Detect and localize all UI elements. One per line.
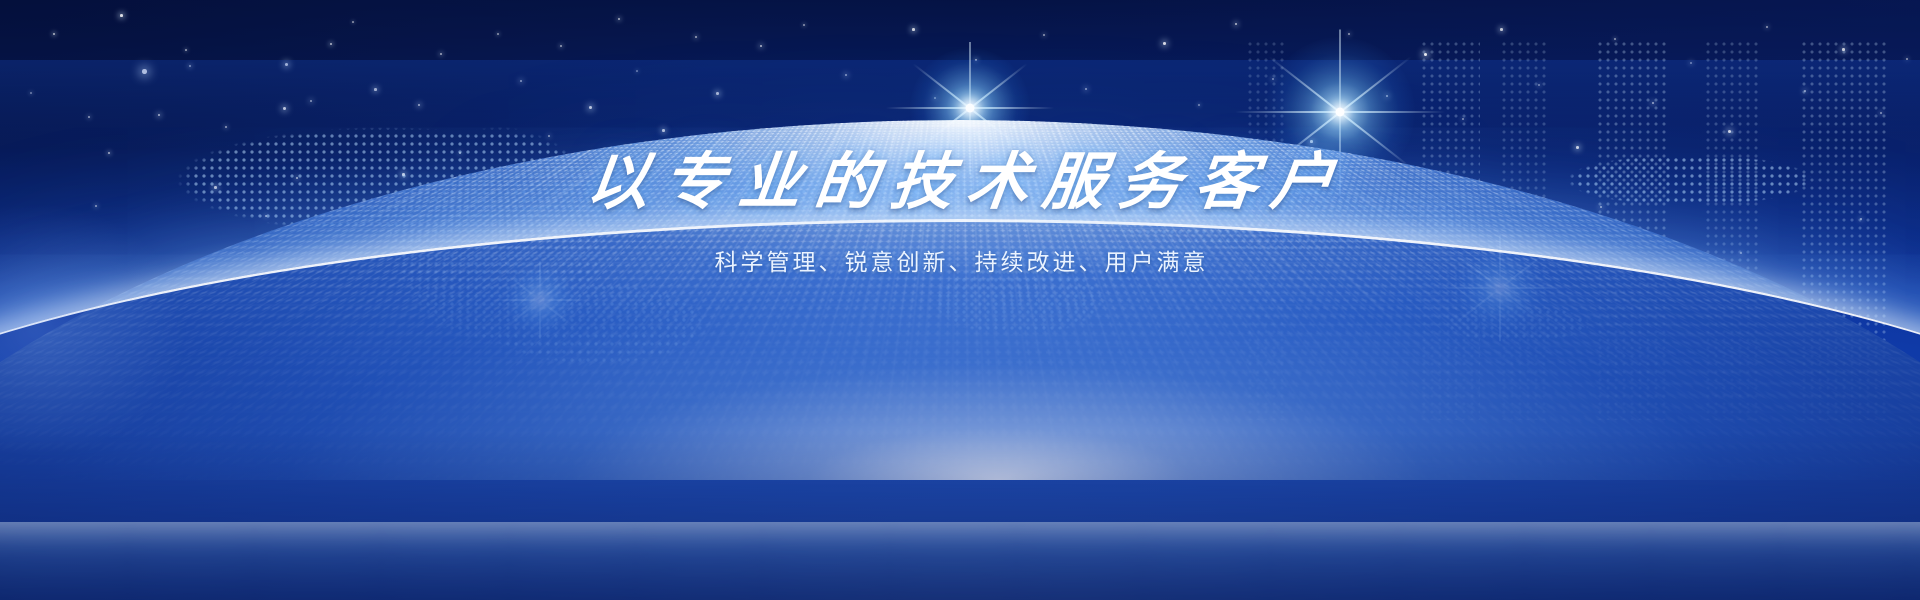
flare-core <box>966 104 975 113</box>
star <box>440 53 442 55</box>
star <box>185 49 187 51</box>
hero-banner: 以专业的技术服务客户 科学管理、锐意创新、持续改进、用户满意 <box>0 0 1920 600</box>
star <box>618 18 620 20</box>
star <box>330 43 332 45</box>
banner-subline: 科学管理、锐意创新、持续改进、用户满意 <box>0 243 1920 277</box>
star <box>1235 23 1237 25</box>
banner-copy: 以专业的技术服务客户 科学管理、锐意创新、持续改进、用户满意 <box>0 150 1920 277</box>
star <box>695 36 697 38</box>
star <box>912 28 915 31</box>
star <box>560 45 562 47</box>
star <box>1348 33 1350 35</box>
star <box>1500 28 1503 31</box>
star <box>1043 34 1045 36</box>
star <box>1163 42 1166 45</box>
banner-headline: 以专业的技术服务客户 <box>0 150 1920 217</box>
star <box>497 33 499 35</box>
star <box>53 33 55 35</box>
star <box>120 14 123 17</box>
flare-core <box>1336 108 1345 117</box>
star <box>803 24 805 26</box>
star <box>1766 26 1768 28</box>
star <box>352 21 354 23</box>
star <box>760 45 762 47</box>
